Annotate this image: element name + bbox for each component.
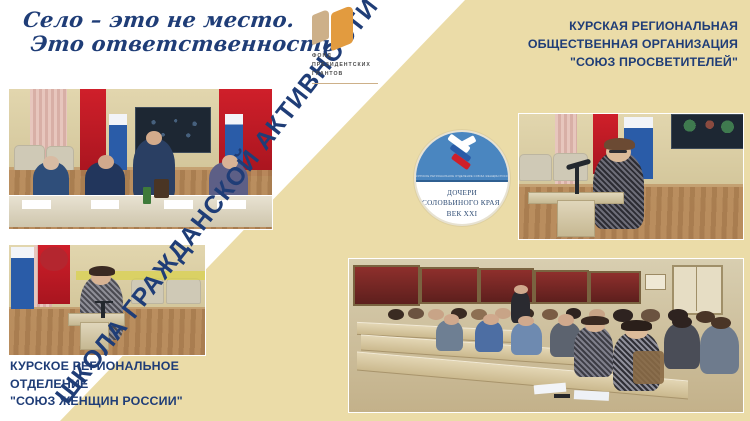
photo-woman-podium-microphone [518,113,744,240]
org-left-line-1: КУРСКОЕ РЕГИОНАЛЬНОЕ [10,358,183,376]
photo-lecture-audience [348,258,744,413]
fund-logo-line-3: ГРАНТОВ [312,70,382,79]
photo-woman-speaker-hall [8,244,206,356]
org-left-line-2: ОТДЕЛЕНИЕ [10,376,183,394]
emblem-line-3: ВЕК XXI [447,209,478,220]
fund-logo-line-2: ПРЕЗИДЕНТСКИХ [312,61,382,70]
russian-tricolor-ribbon-icon [445,138,479,170]
headline-line-2: Это ответственность [20,32,338,56]
page-title: Село – это не место. Это ответственность [20,8,340,55]
emblem-caption: ДОЧЕРИ СОЛОВЬИНОГО КРАЯ. ВЕК XXI [416,184,508,224]
fund-logo-text: ФОНД ПРЕЗИДЕНТСКИХ ГРАНТОВ [312,52,382,79]
presidential-grants-fund-logo: ФОНД ПРЕЗИДЕНТСКИХ ГРАНТОВ [306,8,382,84]
emblem-daughters-of-nightingale-land: КУРСКОЕ РЕГИОНАЛЬНОЕ ОТДЕЛЕНИЕ СОЮЗА ЖЕН… [414,130,510,226]
emblem-line-2: СОЛОВЬИНОГО КРАЯ. [422,198,502,209]
fund-stripe-light-icon [312,9,329,46]
fund-logo-divider [312,83,378,84]
poster-canvas: Село – это не место. Это ответственность… [0,0,750,421]
organisation-title-left: КУРСКОЕ РЕГИОНАЛЬНОЕ ОТДЕЛЕНИЕ "СОЮЗ ЖЕН… [10,358,183,411]
emblem-arc-text: КУРСКОЕ РЕГИОНАЛЬНОЕ ОТДЕЛЕНИЕ СОЮЗА ЖЕН… [416,175,508,178]
org-right-line-3: "СОЮЗ ПРОСВЕТИТЕЛЕЙ" [528,54,738,72]
organisation-title-right: КУРСКАЯ РЕГИОНАЛЬНАЯ ОБЩЕСТВЕННАЯ ОРГАНИ… [528,18,738,72]
org-right-line-2: ОБЩЕСТВЕННАЯ ОРГАНИЗАЦИЯ [528,36,738,54]
fund-logo-line-1: ФОНД [312,52,382,61]
fund-mark-icon [312,8,364,50]
org-right-line-1: КУРСКАЯ РЕГИОНАЛЬНАЯ [528,18,738,36]
org-left-line-3: "СОЮЗ ЖЕНЩИН РОССИИ" [10,393,183,411]
fund-stripe-orange-icon [331,5,353,52]
photo-panel-discussion [8,88,273,230]
headline-line-1: Село – это не место. [22,7,296,32]
emblem-line-1: ДОЧЕРИ [447,188,477,199]
